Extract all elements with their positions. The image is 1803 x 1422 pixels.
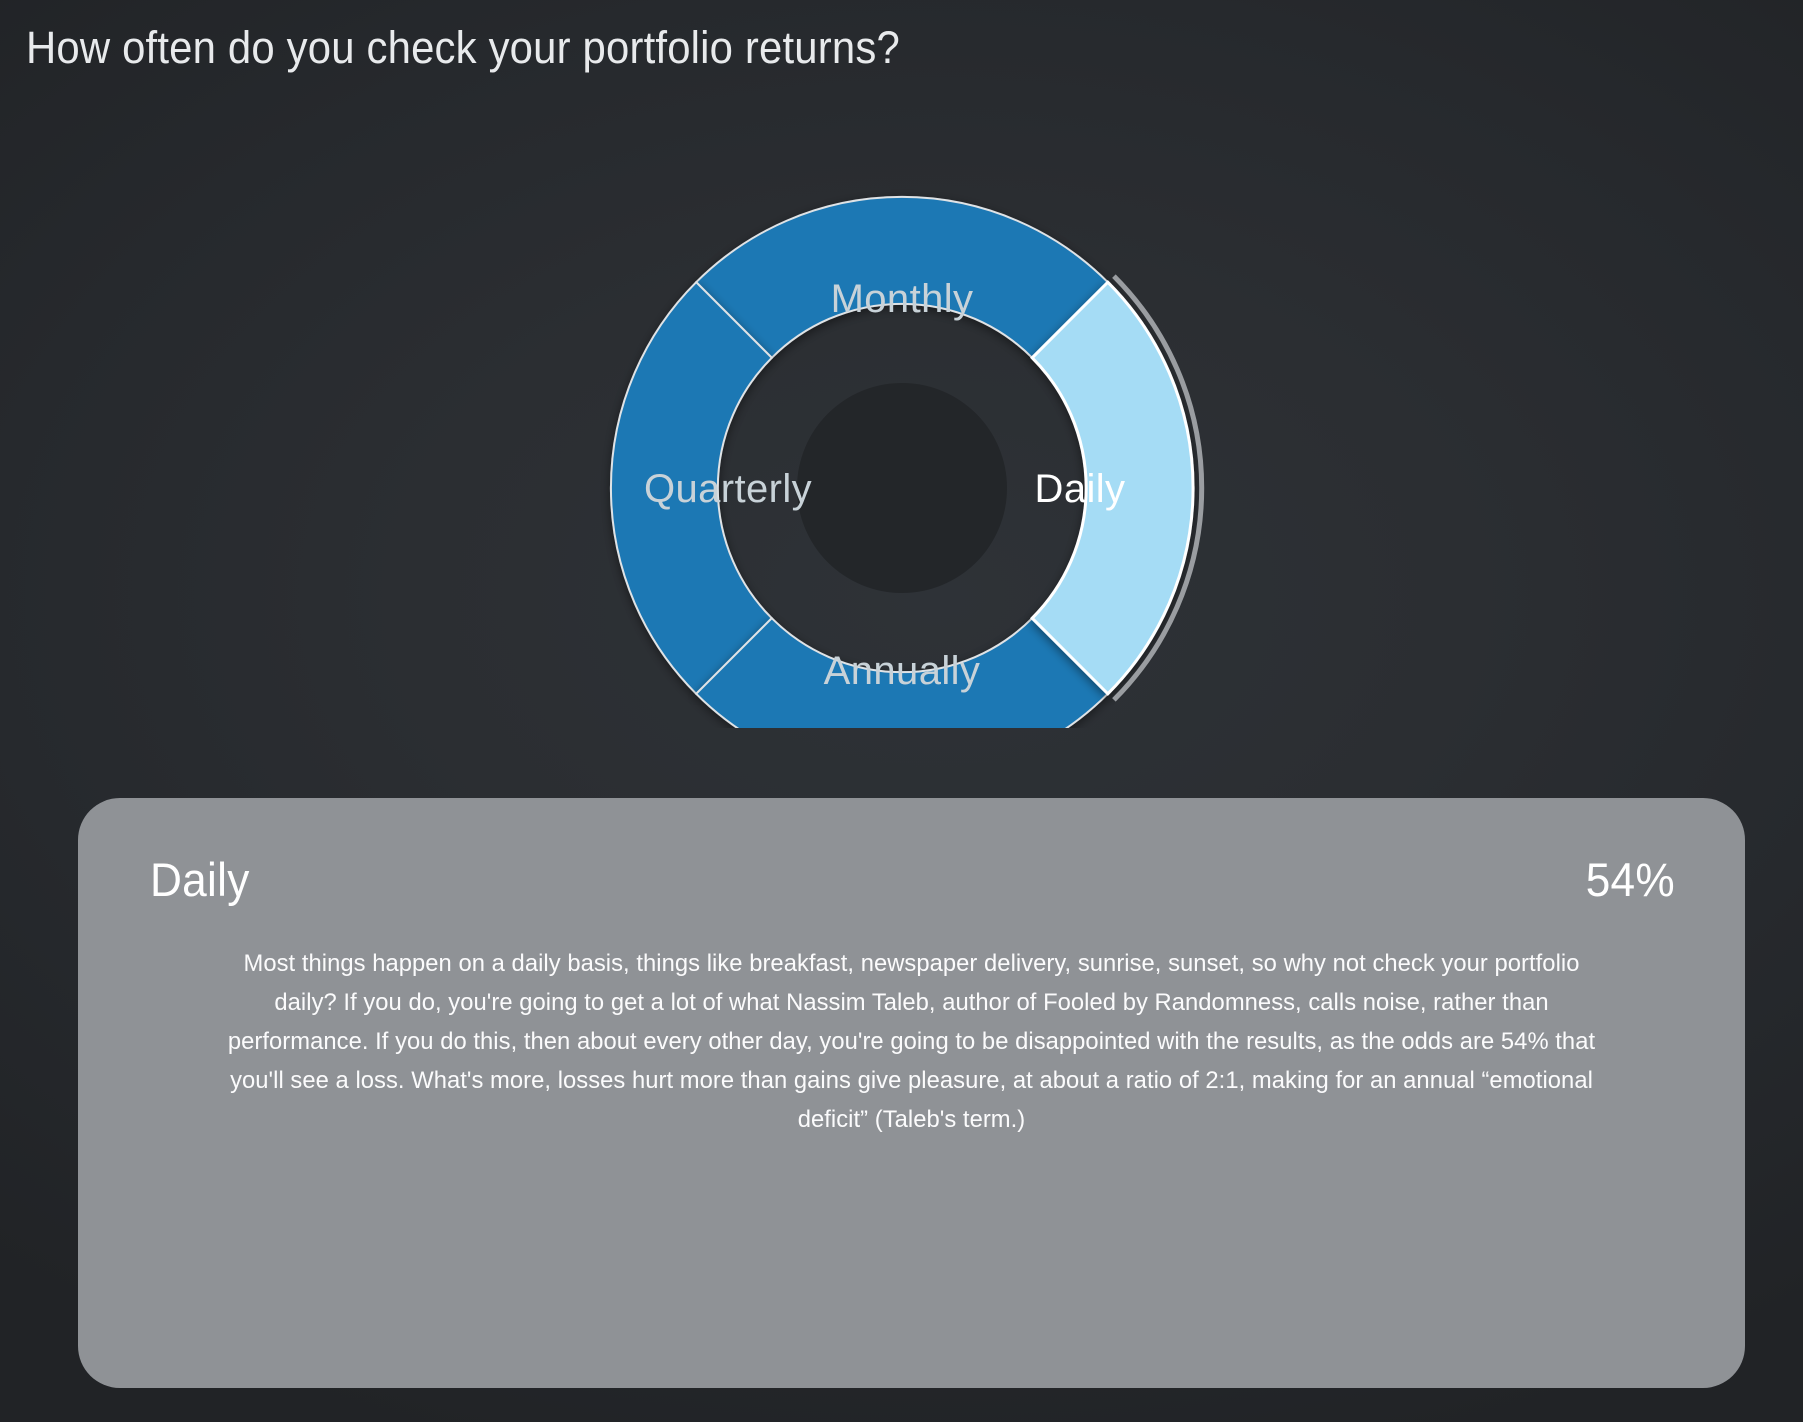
detail-card-header: Daily 54% — [150, 852, 1675, 918]
detail-card-percent: 54% — [1586, 852, 1675, 907]
detail-card-title: Daily — [150, 852, 250, 907]
donut-label-quarterly: Quarterly — [643, 467, 811, 511]
detail-card: Daily 54% Most things happen on a daily … — [78, 798, 1745, 1388]
donut-label-monthly: Monthly — [830, 277, 973, 321]
donut-label-annually: Annually — [823, 649, 980, 693]
detail-card-body-text: Most things happen on a daily basis, thi… — [161, 944, 1662, 1139]
donut-chart-region: Monthly Quarterly Annually Daily — [0, 108, 1803, 788]
page-title: How often do you check your portfolio re… — [26, 22, 900, 74]
donut-hole — [797, 383, 1007, 593]
survey-result-screen: How often do you check your portfolio re… — [0, 0, 1803, 1422]
donut-chart[interactable]: Monthly Quarterly Annually Daily — [522, 108, 1282, 728]
donut-label-daily: Daily — [1034, 467, 1125, 511]
